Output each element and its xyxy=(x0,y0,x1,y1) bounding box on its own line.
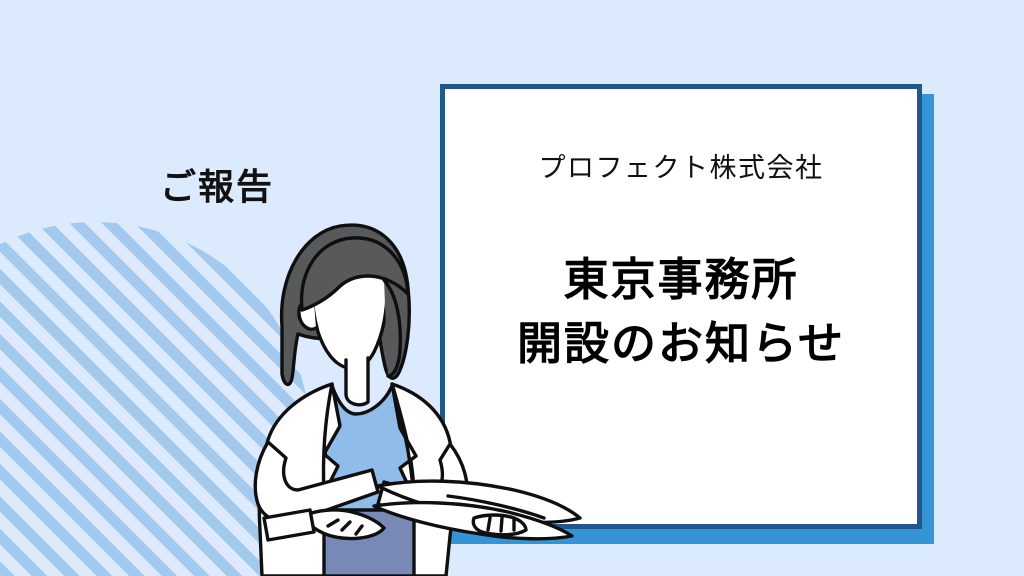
eyebrow-label: ご報告 xyxy=(160,158,274,210)
neck xyxy=(346,358,368,405)
company-name: プロフェクト株式会社 xyxy=(445,151,917,186)
slide-canvas: ご報告 プロフェクト株式会社 東京事務所 開設のお知らせ xyxy=(0,0,1024,576)
businesswoman-illustration xyxy=(228,218,588,576)
